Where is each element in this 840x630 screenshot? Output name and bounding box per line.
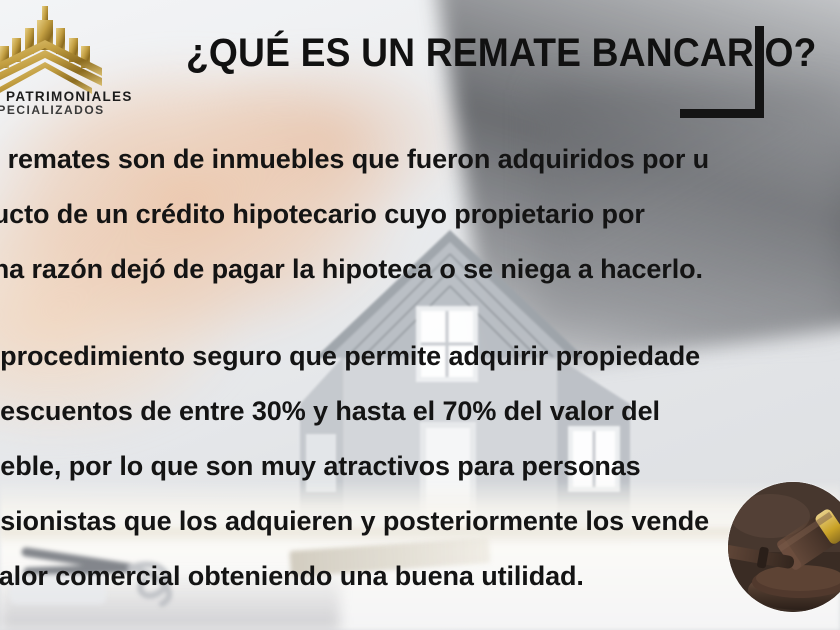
paragraph-2: un procedimiento seguro que permite adqu… xyxy=(0,329,840,604)
paragraph-2-line-2: n descuentos de entre 30% y hasta el 70%… xyxy=(0,384,840,439)
paragraph-1: tos remates son de inmuebles que fueron … xyxy=(0,132,840,297)
paragraph-2-line-1: un procedimiento seguro que permite adqu… xyxy=(0,329,840,384)
paragraph-1-line-1: tos remates son de inmuebles que fueron … xyxy=(0,132,840,187)
company-logo: RES PATRIMONIALES PECIALIZADOS xyxy=(0,6,140,124)
logo-line-1: RES PATRIMONIALES xyxy=(0,90,140,104)
bracket-horizontal-bar xyxy=(680,109,764,118)
building-skyscraper-emblem-icon xyxy=(0,6,110,94)
logo-line-2: PECIALIZADOS xyxy=(0,104,140,117)
paragraph-2-line-5: u valor comercial obteniendo una buena u… xyxy=(0,549,840,604)
paragraph-1-line-3: guna razón dejó de pagar la hipoteca o s… xyxy=(0,242,840,297)
paragraph-1-line-2: nducto de un crédito hipotecario cuyo pr… xyxy=(0,187,840,242)
bracket-vertical-bar xyxy=(755,26,764,118)
paragraph-2-line-3: mueble, por lo que son muy atractivos pa… xyxy=(0,439,840,494)
slide-canvas: RES PATRIMONIALES PECIALIZADOS ¿QUÉ ES U… xyxy=(0,0,840,630)
corner-bracket-decoration xyxy=(680,26,764,118)
paragraph-2-line-4: versionistas que los adquieren y posteri… xyxy=(0,494,840,549)
logo-wordmark: RES PATRIMONIALES PECIALIZADOS xyxy=(0,90,140,117)
body-copy: tos remates son de inmuebles que fueron … xyxy=(0,132,840,604)
